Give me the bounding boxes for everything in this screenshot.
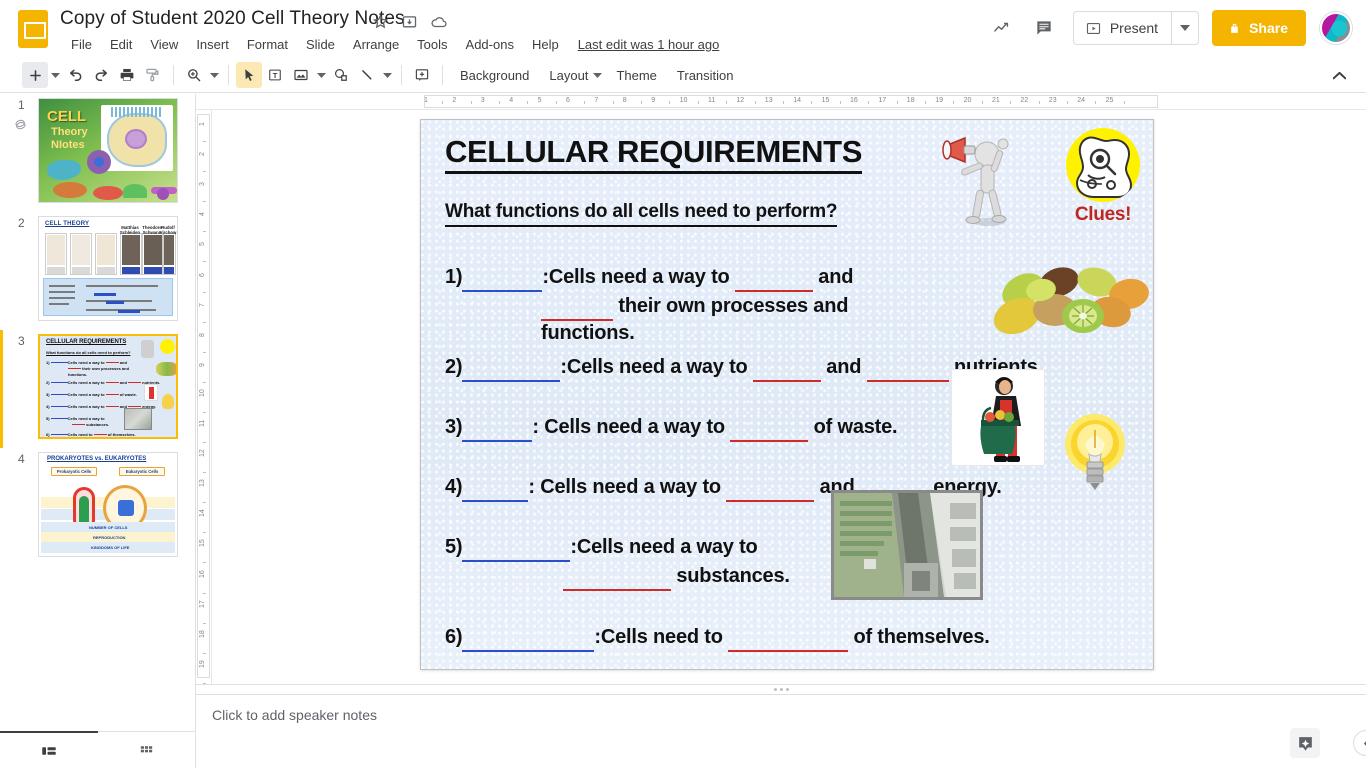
fruits-nutrients-clipart[interactable]	[993, 260, 1153, 338]
ruler-tick-mark	[641, 101, 642, 104]
slide-text: :Cells need a way to	[542, 266, 735, 288]
new-slide-chevron-down-icon[interactable]	[48, 73, 62, 78]
filmstrip-view-icon[interactable]	[0, 731, 98, 768]
ruler-tick-mark	[584, 101, 585, 104]
ruler-tick-label: 7	[199, 303, 206, 307]
slide-number: 3	[18, 334, 25, 348]
zoom-chevron-down-icon[interactable]	[207, 73, 221, 78]
lightbulb-energy-clipart[interactable]	[1061, 410, 1129, 502]
canvas-area[interactable]: CELLULAR REQUIREMENTS What functions do …	[212, 110, 1366, 692]
paint-format-button[interactable]	[140, 62, 166, 88]
present-button[interactable]: Present	[1074, 12, 1171, 44]
ruler-tick-mark	[471, 101, 472, 104]
ruler-tick-label: 10	[680, 97, 688, 104]
ruler-tick-mark	[527, 101, 528, 104]
ruler-tick-mark	[203, 412, 206, 413]
thumb3-question: What functions do all cells need to perf…	[46, 350, 130, 355]
slide-text: substances.	[671, 565, 790, 587]
organelle-shape	[93, 186, 123, 200]
answer-blank-red[interactable]	[753, 351, 821, 382]
slide-text: their own processes and	[613, 295, 848, 317]
ruler-tick-mark	[1039, 101, 1040, 104]
list-number: 2)	[445, 353, 462, 382]
ruler-tick-label: 24	[1077, 97, 1085, 104]
insert-image-chevron-down-icon[interactable]	[314, 73, 328, 78]
collapse-toolbar-chevron-up-icon[interactable]	[1326, 63, 1352, 89]
slide-text: and	[813, 266, 853, 288]
undo-button[interactable]	[62, 62, 88, 88]
megaphone-person-clipart[interactable]	[941, 132, 1036, 227]
menu-edit[interactable]: Edit	[101, 34, 141, 55]
line-button[interactable]	[354, 62, 380, 88]
ruler-tick-label: 9	[199, 363, 206, 367]
ruler-tick-label: 1	[199, 122, 206, 126]
ruler-tick-mark	[1010, 101, 1011, 104]
fruits-nutrients-clipart	[156, 362, 178, 376]
answer-blank-red[interactable]	[735, 261, 813, 292]
notes-resize-handle[interactable]	[196, 684, 1366, 694]
menu-addons[interactable]: Add-ons	[457, 34, 523, 55]
ruler-tick-label: 9	[651, 97, 655, 104]
answer-blank-red[interactable]	[730, 411, 808, 442]
speaker-notes-placeholder[interactable]: Click to add speaker notes	[212, 707, 377, 723]
ruler-tick-label: 12	[736, 97, 744, 104]
slides-logo-icon[interactable]	[18, 10, 48, 48]
slide-filmstrip[interactable]: 1 CELL Theory NIotes	[0, 94, 196, 731]
ruler-tick-mark	[698, 101, 699, 104]
ruler-tick-mark	[203, 472, 206, 473]
thumb4-row-label: REPRODUCTION	[93, 535, 125, 540]
ruler-tick-mark	[203, 442, 206, 443]
menu-file[interactable]: File	[62, 34, 101, 55]
organelle-shape	[53, 182, 87, 198]
ruler-tick-mark	[1124, 101, 1125, 104]
insert-image-button[interactable]	[288, 62, 314, 88]
ruler-tick-label: 23	[1049, 97, 1057, 104]
grid-view-icon[interactable]	[98, 732, 196, 768]
ruler-tick-label: 4	[509, 97, 513, 104]
slide-number: 2	[18, 216, 25, 230]
comment-icon[interactable]	[1025, 9, 1063, 47]
ruler-tick-label: 6	[566, 97, 570, 104]
ruler-tick-label: 17	[199, 600, 206, 608]
ruler-tick-label: 2	[199, 152, 206, 156]
ruler-tick-label: 8	[199, 333, 206, 337]
scientist-name: Matthias Schleiden	[118, 225, 142, 235]
answer-blank-red[interactable]	[867, 351, 949, 382]
menu-help[interactable]: Help	[523, 34, 568, 55]
ruler-tick-label: 5	[538, 97, 542, 104]
add-comment-button[interactable]	[409, 62, 435, 88]
city-aerial-photo[interactable]	[831, 490, 983, 600]
ruler-tick-label: 15	[199, 540, 206, 548]
answer-blank-red[interactable]	[541, 290, 613, 321]
menu-view[interactable]: View	[141, 34, 187, 55]
ruler-tick-label: 8	[623, 97, 627, 104]
ruler-tick-label: 1	[424, 97, 428, 104]
layout-chevron-down-icon[interactable]	[593, 73, 602, 78]
view-mode-tabs	[0, 731, 196, 768]
select-tool-button[interactable]	[236, 62, 262, 88]
thumb3-title: CELLULAR REQUIREMENTS	[46, 339, 126, 345]
menu-insert[interactable]: Insert	[187, 34, 238, 55]
theme-button[interactable]: Theme	[606, 62, 666, 88]
ruler-tick-label: 2	[452, 97, 456, 104]
toolbar: T	[0, 58, 1366, 93]
answer-blank-red[interactable]	[728, 621, 848, 652]
slide-thumbnail-3[interactable]: CELLULAR REQUIREMENTS What functions do …	[38, 334, 178, 439]
answer-blank-blue[interactable]	[462, 411, 532, 442]
cell-diagram-image	[101, 105, 173, 171]
slide-text: : Cells need a way to	[532, 416, 730, 438]
menu-slide[interactable]: Slide	[297, 34, 344, 55]
thumb1-subtitle: Theory NIotes	[51, 126, 88, 152]
document-title[interactable]: Copy of Student 2020 Cell Theory Notes	[60, 8, 405, 30]
ruler-tick-mark	[726, 101, 727, 104]
thumb4-col-right: Eukaryotic Cells	[119, 467, 165, 476]
thumb4-row-label: NUMBER OF CELLS	[89, 525, 127, 530]
filmstrip-slide-2[interactable]: 2 CELL THEORY Matthias Schleiden Theodor…	[0, 212, 196, 330]
ruler-tick-mark	[811, 101, 812, 104]
share-button[interactable]: Share	[1212, 10, 1306, 46]
ruler-tick-mark	[442, 101, 443, 104]
ruler-tick-mark	[203, 231, 206, 232]
shopper-waste-clipart	[144, 384, 158, 401]
slide-list-line[interactable]: functions.	[541, 319, 635, 348]
ruler-tick-label: 16	[850, 97, 858, 104]
shape-button[interactable]	[328, 62, 354, 88]
ruler-tick-label: 22	[1020, 97, 1028, 104]
ruler-tick-mark	[953, 101, 954, 104]
ruler-tick-mark	[925, 101, 926, 104]
transition-button[interactable]: Transition	[667, 62, 744, 88]
organelle-shape	[157, 188, 169, 200]
ruler-tick-mark	[897, 101, 898, 104]
slide-text: functions.	[541, 322, 635, 344]
filmstrip-slide-3[interactable]: 3 CELLULAR REQUIREMENTS What functions d…	[0, 330, 196, 448]
slide-number: 1	[18, 98, 25, 112]
ruler-tick-mark	[203, 171, 206, 172]
slide-text: of waste.	[808, 416, 897, 438]
last-edit-status[interactable]: Last edit was 1 hour ago	[578, 37, 720, 52]
filmstrip-slide-4[interactable]: 4 PROKARYOTES vs. EUKARYOTES Prokaryotic…	[0, 448, 196, 566]
print-button[interactable]	[114, 62, 140, 88]
ruler-tick-label: 11	[708, 97, 715, 104]
ruler-tick-label: 11	[199, 420, 206, 427]
present-label: Present	[1110, 20, 1158, 36]
slide-list-line[interactable]: 3) : Cells need a way to of waste.	[445, 411, 897, 442]
answer-blank-blue[interactable]	[462, 351, 560, 382]
organelle-shape	[123, 184, 147, 198]
active-slide-indicator	[0, 330, 3, 448]
ruler-tick-label: 19	[199, 660, 206, 668]
slide-thumbnail-2[interactable]: CELL THEORY Matthias Schleiden Theodore …	[38, 216, 178, 321]
filmstrip-slide-1[interactable]: 1 CELL Theory NIotes	[0, 94, 196, 212]
list-number: 4)	[445, 473, 462, 502]
clues-detective-clipart	[160, 339, 175, 354]
slide-list-line[interactable]: 5) :Cells need a way to	[445, 531, 758, 562]
shopper-waste-clipart[interactable]	[951, 369, 1045, 466]
vertical-ruler[interactable]: 12345678910111213141516171819	[196, 110, 212, 692]
move-to-folder-icon[interactable]	[401, 13, 418, 30]
ruler-tick-label: 3	[481, 97, 485, 104]
ruler-tick-label: 14	[793, 97, 801, 104]
ruler-tick-mark	[203, 653, 206, 654]
ruler-tick-label: 3	[199, 182, 206, 186]
zoom-button[interactable]	[181, 62, 207, 88]
thumb1-sub1: Theory	[51, 126, 88, 138]
answer-blank-blue[interactable]	[462, 621, 594, 652]
toolbar-divider-2	[228, 65, 229, 85]
ruler-tick-label: 5	[199, 242, 206, 246]
ruler-tick-mark	[868, 101, 869, 104]
ruler-tick-label: 25	[1106, 97, 1114, 104]
list-number: 6)	[445, 623, 462, 652]
ruler-tick-mark	[783, 101, 784, 104]
horizontal-ruler[interactable]: 1234567891011121314151617181920212223242…	[196, 94, 1366, 110]
thumb4-col-left: Prokaryotic Cells	[51, 467, 97, 476]
menu-tools[interactable]: Tools	[408, 34, 456, 55]
slide-text: :Cells need a way to	[560, 356, 753, 378]
ruler-tick-label: 18	[907, 97, 915, 104]
ruler-tick-mark	[203, 201, 206, 202]
collapse-panel-chevron-left-icon[interactable]	[1353, 730, 1366, 756]
scientist-name: Rudolf Virchow	[158, 225, 178, 235]
ruler-tick-mark	[840, 101, 841, 104]
title-bar: Copy of Student 2020 Cell Theory Notes	[0, 0, 1366, 58]
ruler-tick-mark	[203, 532, 206, 533]
slide-number: 4	[18, 452, 25, 466]
slide-text: : Cells need a way to	[528, 476, 726, 498]
share-label: Share	[1249, 20, 1288, 36]
ruler-tick-mark	[499, 101, 500, 104]
ruler-tick-label: 21	[992, 97, 1000, 104]
answer-blank-blue[interactable]	[462, 261, 542, 292]
ruler-tick-mark	[203, 292, 206, 293]
ruler-tick-mark	[556, 101, 557, 104]
lock-icon	[1227, 21, 1242, 36]
megaphone-person-clipart	[141, 340, 154, 358]
ruler-tick-label: 7	[594, 97, 598, 104]
thumb2-notes-box	[43, 278, 173, 316]
ruler-tick-mark	[203, 502, 206, 503]
ruler-tick-label: 15	[822, 97, 830, 104]
ruler-tick-label: 17	[878, 97, 886, 104]
ruler-tick-label: 6	[199, 273, 206, 277]
ruler-tick-mark	[203, 261, 206, 262]
header-actions: Present Share	[983, 9, 1352, 47]
list-number: 3)	[445, 413, 462, 442]
thumb4-title: PROKARYOTES vs. EUKARYOTES	[47, 456, 146, 462]
toolbar-divider	[173, 65, 174, 85]
list-number: 5)	[445, 533, 462, 562]
list-number: 1)	[445, 263, 462, 292]
thumb2-title: CELL THEORY	[45, 221, 89, 227]
thumb4-row-label: KINGDOMS OF LIFE	[91, 545, 129, 550]
slide-text: and	[821, 356, 867, 378]
ruler-tick-label: 12	[199, 449, 206, 457]
clues-circle	[1066, 128, 1140, 202]
ruler-tick-mark	[203, 141, 206, 142]
present-chevron-down-icon[interactable]	[1172, 12, 1198, 44]
user-avatar[interactable]	[1320, 12, 1352, 44]
star-icon[interactable]	[372, 13, 389, 30]
thumb1-sub2: NIotes	[51, 139, 85, 151]
menu-bar: File Edit View Insert Format Slide Arran…	[62, 34, 719, 55]
ruler-tick-label: 4	[199, 212, 206, 216]
toolbar-divider-3	[401, 65, 402, 85]
cloud-status-icon[interactable]	[430, 13, 447, 30]
text-box-button[interactable]: T	[262, 62, 288, 88]
answer-blank-blue[interactable]	[462, 531, 570, 562]
slide-list-line[interactable]: 1) :Cells need a way to and	[445, 261, 853, 292]
ruler-tick-mark	[203, 562, 206, 563]
ruler-tick-mark	[203, 322, 206, 323]
speaker-notes-panel[interactable]: Click to add speaker notes	[196, 694, 1366, 768]
organelle-shape	[47, 160, 81, 180]
svg-text:T: T	[273, 71, 278, 80]
clues-detective-clipart[interactable]: Clues!	[1061, 128, 1145, 232]
title-icon-group	[372, 13, 447, 30]
ruler-tick-label: 20	[964, 97, 972, 104]
slide-list-line[interactable]: 6) :Cells need to of themselves.	[445, 621, 990, 652]
new-slide-button[interactable]	[22, 62, 48, 88]
layout-button[interactable]: Layout	[539, 62, 606, 88]
lightbulb-energy-clipart	[162, 394, 174, 409]
ruler-tick-mark	[982, 101, 983, 104]
ruler-tick-mark	[203, 352, 206, 353]
ruler-tick-mark	[203, 382, 206, 383]
clues-label: Clues!	[1061, 204, 1145, 226]
skip-slide-icon[interactable]	[12, 116, 29, 138]
slide-title[interactable]: CELLULAR REQUIREMENTS	[445, 134, 862, 174]
ruler-tick-mark	[613, 101, 614, 104]
ruler-tick-mark	[203, 623, 206, 624]
ruler-tick-label: 16	[199, 570, 206, 578]
ruler-tick-mark	[1095, 101, 1096, 104]
ruler-tick-label: 13	[199, 479, 206, 487]
slide-thumbnail-4[interactable]: PROKARYOTES vs. EUKARYOTES Prokaryotic C…	[38, 452, 178, 557]
ruler-tick-label: 10	[199, 389, 206, 397]
ruler-tick-mark	[1067, 101, 1068, 104]
slide-canvas[interactable]: CELLULAR REQUIREMENTS What functions do …	[420, 119, 1154, 670]
present-control: Present	[1073, 11, 1199, 45]
organelle-shape	[87, 150, 111, 174]
ruler-tick-mark	[669, 101, 670, 104]
menu-format[interactable]: Format	[238, 34, 297, 55]
city-aerial-photo	[124, 408, 152, 430]
redo-button[interactable]	[88, 62, 114, 88]
ruler-tick-label: 13	[765, 97, 773, 104]
slide-thumbnail-1[interactable]: CELL Theory NIotes	[38, 98, 178, 203]
editor-area: 1234567891011121314151617181920212223242…	[196, 94, 1366, 692]
thumb1-title: CELL	[47, 109, 86, 124]
answer-blank-red[interactable]	[563, 560, 671, 591]
slide-text: of themselves.	[848, 626, 990, 648]
toolbar-divider-4	[442, 65, 443, 85]
explore-icon[interactable]	[1290, 728, 1320, 758]
ruler-tick-mark	[755, 101, 756, 104]
answer-blank-blue[interactable]	[462, 471, 528, 502]
ruler-tick-label: 19	[935, 97, 943, 104]
slide-text: :Cells need to	[594, 626, 728, 648]
slide-question[interactable]: What functions do all cells need to perf…	[445, 200, 837, 227]
slide-list-line[interactable]: their own processes and	[541, 290, 848, 321]
menu-arrange[interactable]: Arrange	[344, 34, 408, 55]
slide-list-line[interactable]: substances.	[563, 560, 790, 591]
answer-blank-red[interactable]	[726, 471, 814, 502]
line-chevron-down-icon[interactable]	[380, 73, 394, 78]
slide-text: :Cells need a way to	[570, 536, 757, 558]
ruler-tick-label: 18	[199, 630, 206, 638]
ruler-tick-mark	[203, 593, 206, 594]
background-button[interactable]: Background	[450, 62, 539, 88]
activity-dashboard-icon[interactable]	[983, 9, 1021, 47]
ruler-tick-label: 14	[199, 510, 206, 518]
layout-label: Layout	[549, 68, 588, 83]
